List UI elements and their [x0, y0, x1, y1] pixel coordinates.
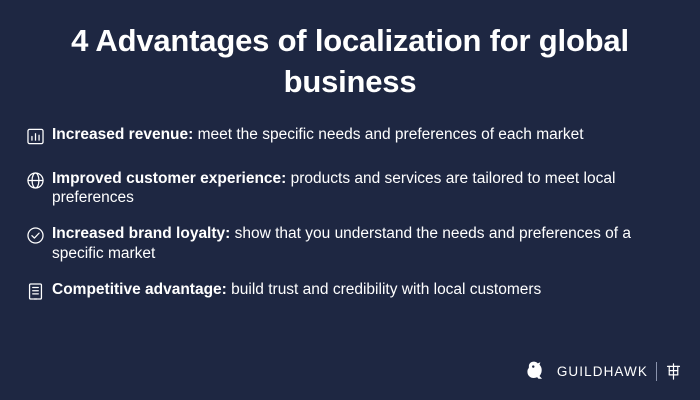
- list-item-text: Increased brand loyalty: show that you u…: [52, 224, 660, 263]
- bullet-list: Increased revenue: meet the specific nee…: [0, 125, 700, 308]
- list-item: Increased brand loyalty: show that you u…: [18, 224, 660, 263]
- chinese-character-icon: [665, 362, 682, 381]
- page-title: 4 Advantages of localization for global …: [0, 0, 700, 103]
- brand-logo: GUILDHAWK: [524, 358, 682, 384]
- list-item-lead: Increased brand loyalty:: [52, 225, 230, 242]
- list-item-lead: Competitive advantage:: [52, 281, 227, 298]
- bar-chart-icon: [18, 125, 52, 153]
- building-icon: [18, 280, 52, 308]
- list-item-lead: Improved customer experience:: [52, 170, 286, 187]
- list-item: Increased revenue: meet the specific nee…: [18, 125, 660, 153]
- brand-name: GUILDHAWK: [557, 364, 648, 379]
- list-item-lead: Increased revenue:: [52, 126, 193, 143]
- list-item: Improved customer experience: products a…: [18, 169, 660, 208]
- slide: 4 Advantages of localization for global …: [0, 0, 700, 400]
- hawk-icon: [524, 358, 550, 384]
- logo-divider: [656, 362, 657, 381]
- list-item-text: Improved customer experience: products a…: [52, 169, 660, 208]
- list-item-text: Competitive advantage: build trust and c…: [52, 280, 549, 300]
- list-item-body: build trust and credibility with local c…: [227, 281, 541, 298]
- check-circle-icon: [18, 224, 52, 252]
- globe-icon: [18, 169, 52, 197]
- list-item-text: Increased revenue: meet the specific nee…: [52, 125, 592, 145]
- list-item: Competitive advantage: build trust and c…: [18, 280, 660, 308]
- list-item-body: meet the specific needs and preferences …: [193, 126, 583, 143]
